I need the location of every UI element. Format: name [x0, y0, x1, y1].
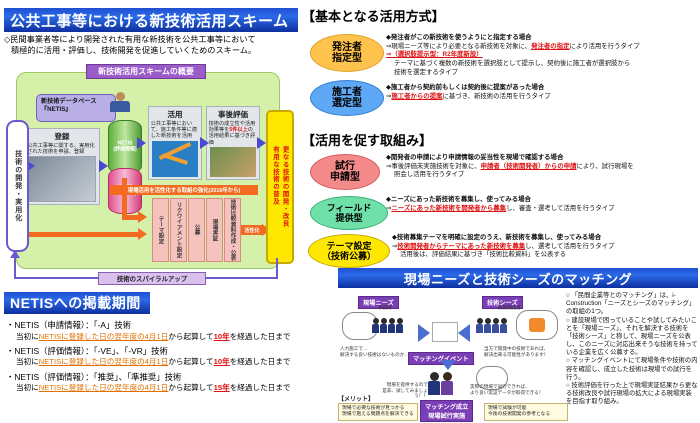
merit-label: 【メリット】 — [338, 394, 374, 403]
n1-u1: NETISに登録した日の翌年度の4月1日 — [39, 357, 169, 366]
pill-orderer-line1: 発注者 — [332, 42, 362, 54]
d-orderer-2-u: 発注者の指定 — [531, 43, 569, 50]
tag-site-needs-sub: 事務所 — [378, 305, 392, 311]
lead-line-2: 積極的に活用・評価し、技術開発を促進していくためのスキーム。 — [4, 45, 296, 56]
step-utilization: 活用 公共工事等において、施工条件等に適した新技術を活用 — [148, 106, 202, 180]
netis-item-2-detail: 当初にNETISに登録した日の翌年度の4月1日から起算して15年を経過した日まで — [6, 383, 336, 392]
d-orderer-1: ◆発注者がこの新技術を使うようにと指定する場合 — [386, 34, 698, 43]
matching-illustration-panel: 現場ニーズ 事務所 人力施工で… 解決する良い技術はないものか… 技術シーズ 技… — [336, 290, 562, 420]
robot-icon — [529, 318, 545, 332]
pill-field-line1: フィールド — [327, 203, 372, 213]
netis-item-0-line: ・NETIS（申請情報）：「-A」技術 — [6, 320, 336, 331]
page-title-scheme: 公共工事等における新技術活用スキーム — [4, 8, 298, 32]
arrow-netis-to-use — [137, 137, 146, 149]
pill-trial-line2: 申請型 — [330, 172, 360, 184]
d-trial-3: 照会し活用を行うタイプ — [386, 171, 698, 180]
tag-matching-result: マッチング成立 現場試行実施 — [420, 400, 473, 422]
tag-tech-seeds-sub: 技術開発者 — [498, 305, 521, 311]
d-orderer-2-pre: ⇒現場ニーズ等により必要となる新技術を対象に、 — [386, 43, 531, 50]
n1-post: を経過した日まで — [230, 357, 291, 366]
page-title-matching: 現場ニーズと技術シーズのマッチング — [338, 268, 698, 288]
netis-item-1-detail: 当初にNETISに登録した日の翌年度の4月1日から起算して10年を経過した日まで — [6, 357, 336, 366]
merit-box-right: 現場で試験が可能 今後の技術開発の参考となる — [484, 403, 568, 421]
d-theme-2-u: 技術開発者からテーマにあった新技術を募集 — [397, 243, 525, 250]
person-icon — [380, 318, 387, 333]
desc-field-provision: ◆ニーズにあった新技術を募集し、使ってみる場合 ⇒ニーズにあった新技術を開発者か… — [386, 196, 698, 213]
d-trial-1: ◆開発者の申請により申請情報の妥当性を現場で確認する場合 — [386, 154, 698, 163]
n0-post: を経過した日まで — [230, 332, 291, 341]
netis-period-list: ・NETIS（申請情報）：「-A」技術 当初にNETISに登録した日の翌年度の4… — [6, 320, 336, 398]
d-contractor-2-post: に基づき、新技術の活用を行うタイプ — [442, 93, 550, 100]
lead-line-1: ◇民間事業者等により開発された有用な新技術を公共工事等において — [4, 34, 296, 45]
n2-u2: 15年 — [214, 383, 230, 392]
netis-database-bubble: 新技術データベース 『NETIS』 — [36, 94, 116, 122]
event-board-icon — [432, 322, 458, 342]
pill-trial-line1: 試行 — [335, 161, 355, 173]
d-contractor-2-u: 施工者からの提案 — [391, 93, 442, 100]
needs-people-group — [372, 318, 403, 333]
person-icon — [484, 318, 491, 333]
n0-u2: 10年 — [214, 332, 230, 341]
d-trial-2-post: により、試行現場を — [577, 163, 634, 170]
person-icon — [500, 318, 507, 333]
policy-column-comparison: 技術比較資料作成・公表 — [224, 198, 241, 262]
d-theme-3: 活用後は、評価結果に基づき「技術比較資料」を公表する — [392, 251, 698, 260]
arrow-eval-to-spread — [257, 137, 266, 149]
d-orderer-2-post: により活用を行うタイプ — [569, 43, 639, 50]
step-registration-body: 公共工事等に関する、実用化された技術を申請、登録 — [27, 143, 97, 155]
arrow-spiral-up — [10, 250, 20, 258]
person-icon — [492, 318, 499, 333]
pill-theme-line2: （技術公募） — [322, 251, 376, 261]
d-orderer-3: ⇒（選択肢提示型：R2年度新設） — [386, 51, 698, 60]
step-post-evaluation-heading: 事後評価 — [218, 109, 248, 120]
seeds-caption: 当方で開発中の技術であれば、 解決出来る可能性があります！ — [484, 346, 560, 357]
pill-orderer-line2: 指定型 — [332, 53, 362, 65]
step-utilization-body: 公共工事等において、施工条件等に適した新技術を活用 — [151, 121, 200, 140]
result-tag-wrap: マッチング成立 現場試行実施 — [420, 400, 473, 423]
seeds-thought-cloud — [516, 310, 558, 340]
arrow-register-to-netis — [99, 160, 108, 172]
d-field-2: ⇒ニーズにあった新技術を開発者から募集し、審査・選考して活用を行うタイプ — [386, 205, 698, 214]
pill-contractor-selected: 施工者 選定型 — [310, 80, 384, 116]
n2-pre: 当初に — [16, 383, 39, 392]
pill-contractor-line1: 施工者 — [332, 87, 362, 99]
arrow-to-policy-1 — [138, 211, 147, 223]
left-balloon-text: 現場を提供するので 是非、試してみましょう！！ — [372, 382, 428, 399]
handshake-pair — [428, 372, 453, 395]
person-icon — [388, 318, 395, 333]
person-icon — [476, 318, 483, 333]
n2-u1: NETISに登録した日の翌年度の4月1日 — [39, 383, 169, 392]
person-icon — [372, 318, 379, 333]
heading-basic-methods: 【基本となる活用方式】 — [302, 6, 445, 25]
n1-mid: から起算して — [168, 357, 213, 366]
step-post-evaluation: 事後評価 技術の成立性や活用効果等を5件以上の活用結果に基づき評価 — [206, 106, 260, 180]
d-orderer-4: テーマに基づく複数の新技術を選択肢として提示し、契約後に施工者が選択肢から — [386, 60, 698, 69]
registration-photo — [28, 156, 97, 202]
step-registration: 登録 公共工事等に関する、実用化された技術を申請、登録 — [24, 128, 100, 205]
person-icon — [428, 372, 440, 395]
person-at-desk-icon — [108, 92, 132, 114]
step-utilization-heading: 活用 — [168, 109, 183, 120]
orange-flow-bottom — [24, 232, 140, 237]
pill-theme-line1: テーマ設定 — [326, 241, 371, 251]
desc-trial-application: ◆開発者の申請により申請情報の妥当性を現場で確認する場合 ⇒事後評価未実施技術を… — [386, 154, 698, 180]
page-title-netis-period: NETISへの掲載期間 — [4, 292, 150, 314]
n1-pre: 当初に — [16, 357, 39, 366]
d-trial-2-pre: ⇒事後評価未実施技術を対象に、 — [386, 163, 481, 170]
n2-mid: から起算して — [168, 383, 213, 392]
scheme-caption: 新技術活用スキームの概要 — [86, 64, 206, 79]
netis-item-1-line: ・NETIS（評価情報）：「-VE」、「-VR」技術 — [6, 346, 336, 357]
n0-u1: NETISに登録した日の翌年度の4月1日 — [39, 332, 169, 341]
step-registration-heading: 登録 — [55, 131, 70, 142]
pill-contractor-line2: 選定型 — [332, 98, 362, 110]
netis-item-0-detail: 当初にNETISに登録した日の翌年度の4月1日から起算して10年を経過した日まで — [6, 332, 336, 341]
policy-column-requirement: リクワイアメント設定 — [170, 198, 187, 262]
pill-field-line2: 提供型 — [335, 213, 362, 223]
arrow-event-down — [440, 360, 456, 370]
utilization-photo — [152, 141, 199, 177]
merit-box-left: 現場で必要な技術が見つかる 現場で抱える問題点を解決できる — [338, 403, 418, 421]
policy-activation-label: 活性化 — [241, 225, 263, 235]
d-theme-1: ◆技術募集テーマを明確に設定のうえ、新技術を募集し、使ってみる場合 — [392, 234, 698, 243]
arrow-seeds-to-event — [458, 324, 470, 342]
spiral-loop-left — [14, 258, 16, 278]
policy-column-theme: テーマ設定 — [152, 198, 169, 262]
heading-promotion-efforts: 【活用を促す取組み】 — [302, 130, 432, 149]
d-trial-2: ⇒事後評価未実施技術を対象に、申請者（技術開発者）からの申請により、試行現場を — [386, 163, 698, 172]
matching-description: ○ 「民間企業等とのマッチング」は、i-Construction「ニーズとシーズ… — [566, 292, 698, 406]
desc-contractor-selected: ◆施工者から契約前もしくは契約後に提案があった場合 ⇒施工者からの提案に基づき、… — [386, 84, 698, 101]
n0-mid: から起算して — [168, 332, 213, 341]
n1-u2: 10年 — [214, 357, 230, 366]
pill-theme-setting: テーマ設定 （技術公募） — [308, 234, 390, 268]
lead-paragraph: ◇民間事業者等により開発された有用な新技術を公共工事等において 積極的に活用・評… — [4, 34, 296, 56]
policy-strengthening-caption: 現場活用を活性化する取組の強化(2016年から) — [110, 185, 258, 195]
netis-item-2-line: ・NETIS（評価情報）：「推奨」、「準推奨」技術 — [6, 372, 336, 383]
seeds-people-group — [476, 318, 507, 333]
person-icon — [441, 372, 453, 395]
vertical-label-development: 技術の開発・実用化 — [6, 120, 29, 252]
n0-pre: 当初に — [16, 332, 39, 341]
pill-trial-application: 試行 申請型 — [310, 154, 380, 190]
vertical-label-spread: 更なる技術の開発・改良 有用な技術の普及 — [266, 110, 294, 264]
arrow-to-policy-2 — [138, 228, 147, 240]
n2-post: を経過した日まで — [230, 383, 291, 392]
d-field-2-u: ニーズにあった新技術を開発者から募集 — [391, 205, 506, 212]
d-orderer-2: ⇒現場ニーズ等により必要となる新技術を対象に、発注者の指定により活用を行うタイプ — [386, 43, 698, 52]
policy-column-field-demo: 現場実証 — [206, 198, 223, 262]
person-icon — [396, 318, 403, 333]
step-post-evaluation-body: 技術の成立性や活用効果等を5件以上の活用結果に基づき評価 — [209, 121, 258, 146]
d-theme-2-post: し、選考して活用を行うタイプ — [525, 243, 614, 250]
policy-column-public-offer: 公募 — [188, 198, 205, 262]
d-contractor-1: ◆施工者から契約前もしくは契約後に提案があった場合 — [386, 84, 698, 93]
d-field-1: ◆ニーズにあった新技術を募集し、使ってみる場合 — [386, 196, 698, 205]
right-balloon-text: 実際の現場で試行できれば、 より良い実証データが取得できる！ — [470, 384, 554, 395]
arrow-needs-to-event — [418, 324, 430, 342]
arrow-use-to-eval — [200, 137, 209, 149]
d-contractor-2: ⇒施工者からの提案に基づき、新技術の活用を行うタイプ — [386, 93, 698, 102]
desc-orderer-designated: ◆発注者がこの新技術を使うようにと指定する場合 ⇒現場ニーズ等により必要となる新… — [386, 34, 698, 77]
d-field-2-post: し、審査・選考して活用を行うタイプ — [506, 205, 614, 212]
needs-caption: 人力施工で… 解決する良い技術はないものか… — [340, 346, 410, 357]
d-theme-2: ⇒技術開発者からテーマにあった新技術を募集し、選考して活用を行うタイプ — [392, 243, 698, 252]
d-orderer-5: 技術を選定するタイプ — [386, 69, 698, 78]
spiral-up-caption: 技術のスパイラルアップ — [98, 272, 206, 285]
d-trial-2-u: 申請者（技術開発者）からの申請 — [481, 163, 577, 170]
pill-field-provision: フィールド 提供型 — [310, 196, 388, 230]
evaluation-photo — [210, 147, 257, 177]
spiral-loop-right — [276, 258, 278, 278]
netis-bubble-label: 新技術データベース 『NETIS』 — [41, 98, 96, 113]
desc-theme-setting: ◆技術募集テーマを明確に設定のうえ、新技術を募集し、使ってみる場合 ⇒技術開発者… — [392, 234, 698, 260]
pill-orderer-designated: 発注者 指定型 — [310, 34, 384, 72]
